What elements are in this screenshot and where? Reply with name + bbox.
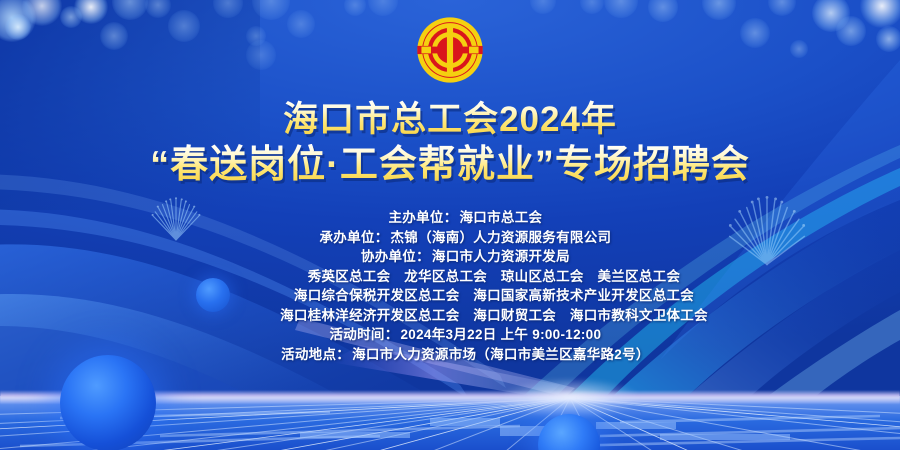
poster-title-line-1: 海口市总工会2024年 xyxy=(0,100,900,139)
coorganizer-row: 海口桂林洋经济开发区总工会 海口财贸工会 海口市教科文卫体工会 xyxy=(0,306,900,326)
detail-separator: ： xyxy=(336,345,350,365)
bokeh-circle xyxy=(0,0,36,42)
detail-row-time: 活动时间 ： 2024年3月22日 上午 9:00-12:00 xyxy=(0,325,900,345)
detail-value: 海口市人力资源开发局 xyxy=(430,247,570,267)
glowing-sphere-center xyxy=(538,414,600,450)
bokeh-circle xyxy=(168,10,200,42)
bokeh-circle xyxy=(22,0,62,26)
bokeh-circle xyxy=(5,14,31,40)
bokeh-circle xyxy=(580,0,604,14)
perspective-speed-lines xyxy=(0,396,900,450)
bokeh-circle xyxy=(368,0,398,16)
detail-row-location: 活动地点 ： 海口市人力资源市场（海口市美兰区嘉华路2号） xyxy=(0,345,900,365)
bokeh-circle xyxy=(702,0,736,20)
horizon-glow xyxy=(0,390,900,404)
coorganizer-row: 秀英区总工会 龙华区总工会 琼山区总工会 美兰区总工会 xyxy=(0,267,900,287)
bokeh-circle xyxy=(344,0,366,16)
detail-label: 活动时间 xyxy=(299,325,385,345)
bokeh-circle xyxy=(60,6,82,28)
detail-separator: ： xyxy=(375,228,389,248)
bokeh-circle xyxy=(246,26,266,46)
coorganizer-list-line: 海口综合保税开发区总工会 海口国家高新技术产业开发区总工会 xyxy=(294,286,694,306)
detail-value: 海口市总工会 xyxy=(458,208,543,228)
bokeh-circle xyxy=(812,0,850,32)
bokeh-circle xyxy=(252,0,290,20)
detail-label: 活动地点 xyxy=(250,345,336,365)
detail-separator: ： xyxy=(385,325,399,345)
detail-value: 海口市人力资源市场（海口市美兰区嘉华路2号） xyxy=(350,345,650,365)
detail-label: 主办单位 xyxy=(358,208,444,228)
bokeh-circle xyxy=(876,26,900,52)
bokeh-circle xyxy=(100,22,128,50)
bokeh-circle xyxy=(112,0,148,20)
poster-details: 主办单位 ： 海口市总工会 承办单位 ： 杰锦（海南）人力资源服务有限公司 协办… xyxy=(0,208,900,364)
detail-row-host: 承办单位 ： 杰锦（海南）人力资源服务有限公司 xyxy=(0,228,900,248)
detail-label: 承办单位 xyxy=(289,228,375,248)
bokeh-circle xyxy=(530,0,556,14)
bokeh-circle xyxy=(648,0,678,22)
trade-union-emblem-icon xyxy=(416,16,484,84)
bokeh-circle xyxy=(836,16,866,46)
bokeh-circle xyxy=(213,0,243,18)
recruitment-fair-poster: 海口市总工会2024年 “春送岗位·工会帮就业”专场招聘会 主办单位 ： 海口市… xyxy=(0,0,900,450)
detail-separator: ： xyxy=(444,208,458,228)
bokeh-circle xyxy=(604,0,638,18)
bokeh-circle xyxy=(768,0,796,16)
bokeh-circle xyxy=(740,18,770,48)
poster-title-group: 海口市总工会2024年 “春送岗位·工会帮就业”专场招聘会 xyxy=(0,100,900,187)
bokeh-circle xyxy=(74,0,108,24)
detail-row-coorganizer: 协办单位 ： 海口市人力资源开发局 xyxy=(0,247,900,267)
detail-value: 杰锦（海南）人力资源服务有限公司 xyxy=(389,228,612,248)
bokeh-circle xyxy=(790,40,808,58)
bokeh-circle xyxy=(145,0,171,18)
detail-label: 协办单位 xyxy=(330,247,416,267)
coorganizer-list-line: 海口桂林洋经济开发区总工会 海口财贸工会 海口市教科文卫体工会 xyxy=(280,306,708,326)
detail-row-organizer: 主办单位 ： 海口市总工会 xyxy=(0,208,900,228)
coorganizer-list-line: 秀英区总工会 龙华区总工会 琼山区总工会 美兰区总工会 xyxy=(308,267,681,287)
coorganizer-row: 海口综合保税开发区总工会 海口国家高新技术产业开发区总工会 xyxy=(0,286,900,306)
vanishing-point-glow xyxy=(500,378,640,418)
detail-value: 2024年3月22日 上午 9:00-12:00 xyxy=(399,325,602,345)
glowing-sphere-large xyxy=(60,355,156,450)
bokeh-circle xyxy=(860,0,900,28)
poster-title-line-2: “春送岗位·工会帮就业”专场招聘会 xyxy=(0,144,900,187)
bokeh-circle xyxy=(246,40,276,70)
detail-separator: ： xyxy=(416,247,430,267)
bokeh-circle xyxy=(287,10,315,38)
